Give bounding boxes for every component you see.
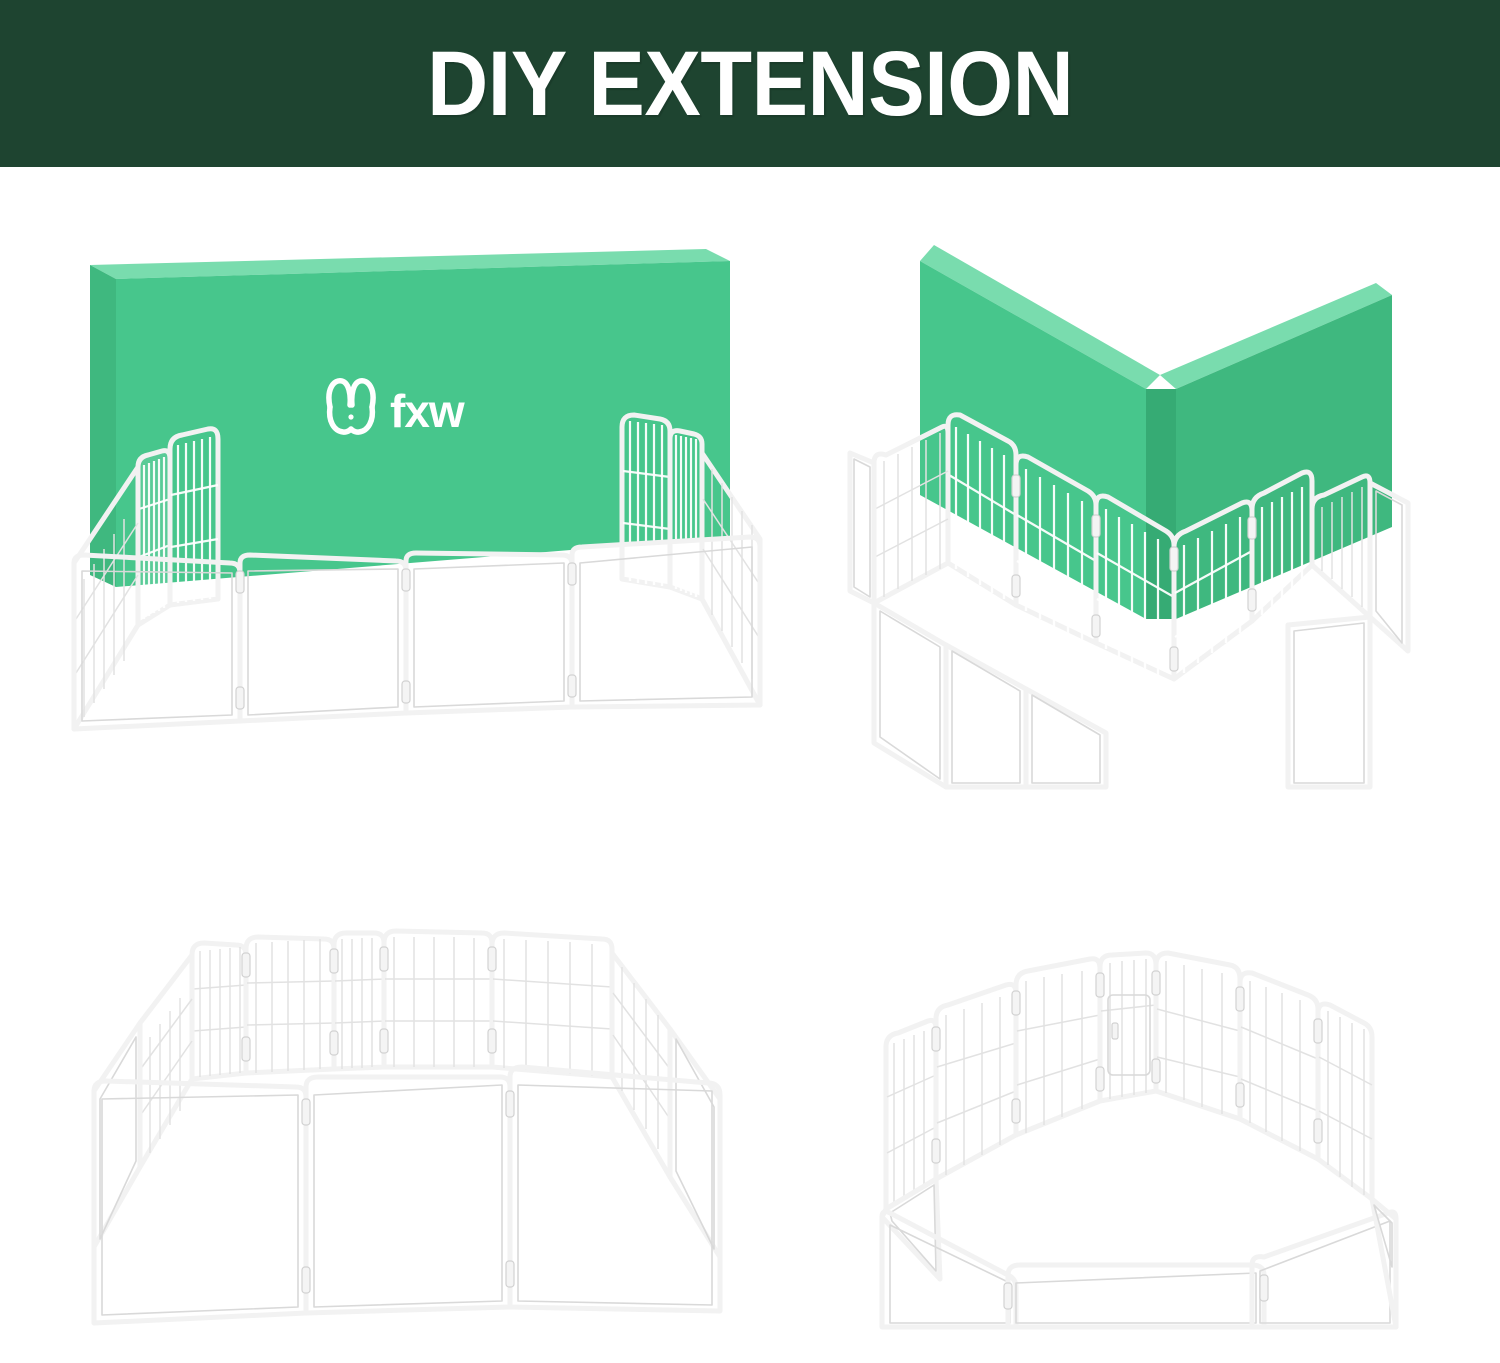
rect-pen-front-panel-2 (306, 1077, 510, 1313)
page-title: DIY EXTENSION (427, 38, 1073, 130)
rect-pen-hinges (242, 947, 514, 1293)
rect-pen-side-right (612, 953, 670, 1177)
oct-pen-front-right (1252, 1212, 1396, 1327)
rect-pen-back-panel-3 (334, 933, 384, 1069)
oct-pen-panel-3 (1016, 959, 1100, 1135)
pen-panel-front-3 (406, 553, 572, 713)
oct-pen-panel-5 (1240, 973, 1318, 1159)
pen-panel-left-return (170, 429, 218, 605)
rect-pen-back-panel-2 (246, 937, 334, 1073)
oct-pen-front-center (1008, 1265, 1264, 1327)
rect-pen-side-left (140, 955, 192, 1167)
rect-pen-front-left-frame (94, 1023, 140, 1247)
infographic-page: DIY EXTENSION (0, 0, 1500, 1363)
oct-pen-gate-panel (1100, 953, 1156, 1101)
pen-panel-near-left-side (850, 453, 874, 603)
pen-panel-back-left (138, 449, 170, 627)
pen-panel-right-return (622, 415, 670, 587)
illustration-grid: fxw (0, 167, 1500, 1363)
illustration-playpen-against-straight-wall: fxw (60, 227, 780, 787)
pen-panel-front-2 (240, 555, 406, 721)
rect-pen-front-panel-3 (510, 1067, 720, 1311)
pen-panel-near-front-mid (946, 645, 1026, 787)
brand-wordmark: fxw (390, 385, 465, 437)
illustration-rectangular-playpen (80, 927, 760, 1327)
rect-pen-back-panel-4 (384, 931, 492, 1067)
rect-pen-front-panel-1 (94, 1081, 306, 1323)
oct-pen-panel-2 (936, 984, 1016, 1179)
rect-pen-back-panel-5 (492, 933, 612, 1077)
pen-panel-near-right-front (1288, 617, 1370, 787)
oct-pen-panel-4 (1156, 953, 1240, 1119)
pen-panel-near-front-right (1026, 689, 1106, 787)
illustration-octagonal-playpen (860, 927, 1420, 1327)
oct-pen-front-left (882, 1212, 1016, 1327)
illustration-playpen-against-corner-wall (830, 227, 1450, 787)
pen-panel-near-front-left (874, 603, 946, 787)
oct-pen-panel-6 (1318, 1004, 1372, 1199)
oct-pen-front-right-side (1372, 1199, 1396, 1327)
rect-pen-back-panel-1 (192, 943, 246, 1079)
header-banner: DIY EXTENSION (0, 0, 1500, 167)
